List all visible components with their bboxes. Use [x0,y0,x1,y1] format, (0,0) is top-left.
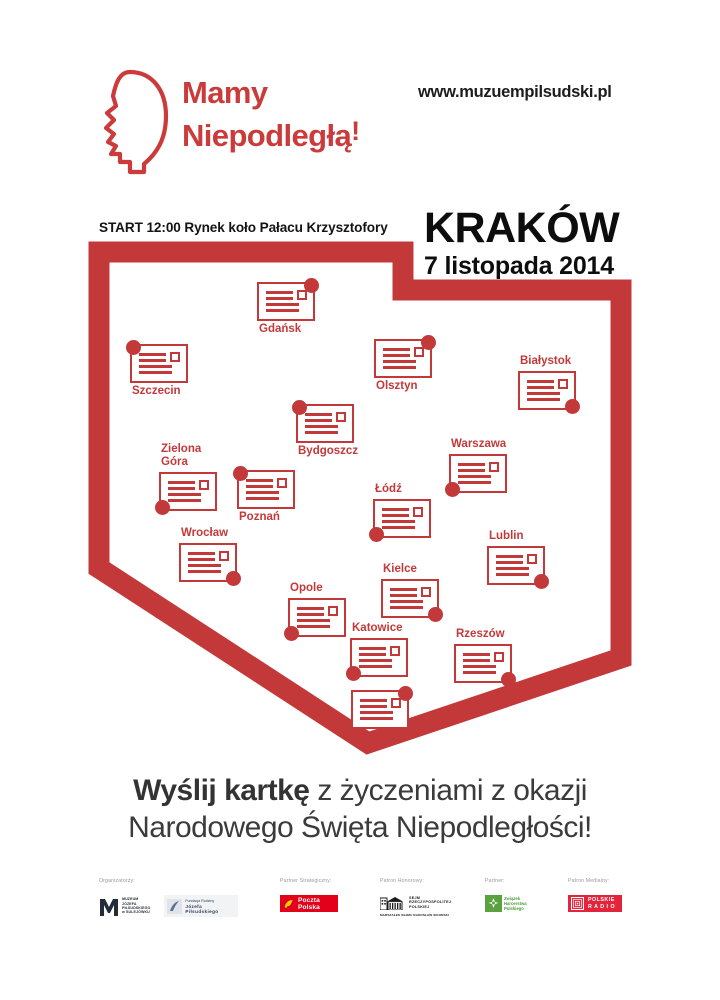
footer-caption: Patron Honorowy: [380,878,464,884]
postcard-line [297,619,330,622]
tagline: Wyślij kartkę z życzeniami z okazji Naro… [0,772,720,846]
postcard-icon [257,282,315,321]
stamp-icon [421,587,431,597]
postcard-line [305,413,332,416]
map-marker-dot-icon [346,666,361,681]
stamp-icon [489,462,499,472]
postcard-line [360,699,387,702]
tagline-bold: Wyślij kartkę [133,774,309,807]
map-pin-label: Gdańsk [259,323,301,336]
stamp-icon [494,652,504,662]
postcard-line [382,526,415,529]
sejm-rp-logo: SEJMRZECZYPOSPOLITEJPOLSKIEJMARSZAŁEK SE… [380,895,464,917]
postcard-line [382,514,409,517]
postcard-line [266,291,293,294]
poster-canvas: Mamy Niepodległą! www.muzuempilsudski.pl… [0,0,720,1000]
footer-caption: Partner: [485,878,527,884]
postcard-line [266,309,299,312]
postcard-line [297,613,324,616]
tagline-line-1: Wyślij kartkę z życzeniami z okazji [0,772,720,809]
tagline-rest: z życzeniami z okazji [309,774,586,807]
brand-line-2: Niepodległą! [182,112,360,155]
postcard-line [305,425,338,428]
postcard-icon [518,371,576,410]
postcard-line [246,479,273,482]
postcard-line [188,558,215,561]
postcard-line [527,398,560,401]
map-pin-label: Olsztyn [376,380,418,393]
map-pin-label: Szczecin [132,385,181,398]
postcard-line [168,481,195,484]
postcard-line [305,419,332,422]
sejm-building-icon [380,895,406,910]
postcard-line [188,570,221,573]
postcard-line [390,594,417,597]
stamp-icon [391,698,401,708]
museum-logo-text: MUZEUMJÓZEFAPIŁSUDSKIEGOw SULEJÓWKU [122,897,150,915]
map-marker-dot-icon [226,571,241,586]
postcard-line [297,607,324,610]
pilsudski-head-icon [100,68,172,176]
map-pin-label: Katowice [352,622,403,635]
sejm-logo-text: SEJMRZECZYPOSPOLITEJPOLSKIEJ [409,896,451,910]
footer-caption: Patron Medialny: [568,878,622,884]
postcard-line [139,371,172,374]
postcard-icon [351,690,409,729]
stamp-icon [297,290,307,300]
poczta-polska-logo: Poczta Polska [280,895,338,912]
start-info: START 12:00 Rynek koło Pałacu Krzysztofo… [99,220,388,235]
postcard-icon [487,546,545,585]
website-url[interactable]: www.muzuempilsudski.pl [418,83,612,102]
footer-logo-group: SEJMRZECZYPOSPOLITEJPOLSKIEJMARSZAŁEK SE… [380,895,464,917]
footer-logo-group: Poczta Polska [280,895,338,912]
postcard-line [168,499,201,502]
brand-line-1: Mamy [182,74,360,112]
postcard-line [168,493,201,496]
postcard-line [266,303,299,306]
stamp-icon [414,347,424,357]
museum-m-mark-icon [99,895,119,917]
postcard-line [139,365,172,368]
postcard-icon [350,638,408,677]
poczta-logo-text: Poczta Polska [298,897,334,911]
footer-column: Organizatorzy:MUZEUMJÓZEFAPIŁSUDSKIEGOw … [99,878,238,958]
map-marker-dot-icon [369,527,384,542]
map-pin-label: Wrocław [181,527,228,540]
map-marker-dot-icon [501,672,516,687]
map-marker-dot-icon [155,500,170,515]
postcard-line [527,386,554,389]
brand-logo-block: Mamy Niepodległą! [100,66,400,176]
postcard-icon [449,454,507,493]
postcard-line [266,297,293,300]
stamp-icon [277,478,287,488]
postcard-icon [373,499,431,538]
postcard-line [390,606,423,609]
fundacja-logo-text: Fundacja RodzinyJózefa Piłsudskiego [185,899,235,914]
footer-caption: Partner Strategiczny: [280,878,338,884]
stamp-icon [413,507,423,517]
postcard-icon [159,472,217,511]
fundacja-rodziny-pilsudskiego-logo: Fundacja RodzinyJózefa Piłsudskiego [164,895,238,917]
map-pin-label: Kielce [383,563,417,576]
postcard-line [458,481,491,484]
polskie-radio-mark-icon [571,897,584,910]
map-pin-label: Kraków [353,731,395,744]
zhp-lily-icon [485,895,502,912]
map-marker-dot-icon [292,400,307,415]
footer-logo-group: MUZEUMJÓZEFAPIŁSUDSKIEGOw SULEJÓWKUFunda… [99,895,238,917]
tagline-line-2: Narodowego Święta Niepodległości! [0,809,720,846]
postcard-line [383,348,410,351]
map-pin-label: Łódź [375,483,402,496]
postcard-line [359,665,392,668]
postcard-line [383,366,416,369]
map-pin-label: Białystok [520,355,571,368]
map-pin-label: Poznań [239,511,280,524]
postcard-line [297,625,330,628]
postcard-line [188,552,215,555]
zwiazek-harcerstwa-polskiego-logo: ZwiązekHarcerstwaPolskiego [485,895,527,912]
postcard-icon [288,598,346,637]
brand-exclamation: ! [351,116,359,146]
postcard-line [246,485,273,488]
post-horn-icon [284,899,295,908]
postcard-line [246,491,279,494]
footer-logo-group: ZwiązekHarcerstwaPolskiego [485,895,527,912]
postcard-icon [381,579,439,618]
stamp-icon [328,606,338,616]
postcard-line [359,653,386,656]
postcard-icon [130,344,188,383]
postcard-line [305,431,338,434]
map-pin-label: Lublin [489,530,524,543]
brand-wordmark: Mamy Niepodległą! [182,74,360,155]
postcard-line [168,487,195,490]
map-marker-dot-icon [445,482,460,497]
postcard-line [188,564,221,567]
postcard-line [463,659,490,662]
sejm-logo-subtext: MARSZAŁEK SEJMU RADOSŁAW SIKORSKI [380,913,464,917]
postcard-line [139,359,166,362]
postcard-line [458,463,485,466]
postcard-icon [237,470,295,509]
postcard-line [463,671,496,674]
postcard-line [360,711,393,714]
map-marker-dot-icon [565,399,580,414]
stamp-icon [219,551,229,561]
postcard-icon [179,543,237,582]
muzeum-pilsudskiego-logo: MUZEUMJÓZEFAPIŁSUDSKIEGOw SULEJÓWKU [99,895,150,917]
postcard-line [246,497,279,500]
footer-column: Partner:ZwiązekHarcerstwaPolskiego [485,878,527,958]
postcard-icon [374,339,432,378]
map-pin-label: Rzeszów [456,628,505,641]
postcard-line [382,520,415,523]
map-marker-dot-icon [126,340,141,355]
postcard-icon [296,404,354,443]
map-marker-dot-icon [304,278,319,293]
sponsor-footer: Organizatorzy:MUZEUMJÓZEFAPIŁSUDSKIEGOw … [0,878,720,968]
postcard-line [382,508,409,511]
map-marker-dot-icon [534,574,549,589]
map-pin-label: Opole [290,582,323,595]
footer-column: Partner Strategiczny:Poczta Polska [280,878,338,958]
postcard-line [463,665,496,668]
postcard-icon [454,644,512,683]
map-marker-dot-icon [421,335,436,350]
map-marker-dot-icon [233,466,248,481]
postcard-line [458,475,491,478]
fundacja-emblem-icon [167,899,182,914]
postcard-line [139,353,166,356]
postcard-line [390,588,417,591]
polskie-radio-logo-text: POLSKIER A D I O [588,897,615,910]
postcard-line [383,360,416,363]
map-marker-dot-icon [428,607,443,622]
map-pin-label: Warszawa [451,438,506,451]
footer-column: Patron Medialny:POLSKIER A D I O [568,878,622,958]
postcard-line [496,561,523,564]
postcard-line [527,392,560,395]
map-pin-label: ZielonaGóra [161,443,201,468]
postcard-line [496,567,529,570]
stamp-icon [390,646,400,656]
postcard-line [359,647,386,650]
postcard-line [383,354,410,357]
footer-column: Patron Honorowy:SEJMRZECZYPOSPOLITEJPOLS… [380,878,464,958]
stamp-icon [527,554,537,564]
postcard-line [458,469,485,472]
postcard-line [496,555,523,558]
map-pin-label: Bydgoszcz [298,445,358,458]
postcard-line [496,573,529,576]
stamp-icon [170,352,180,362]
postcard-line [360,705,387,708]
map-marker-dot-icon [284,626,299,641]
poland-map: GdańskSzczecinOlsztynBiałystokBydgoszczZ… [85,238,635,758]
polskie-radio-logo: POLSKIER A D I O [568,895,622,912]
map-marker-dot-icon [398,686,413,701]
postcard-line [390,600,423,603]
postcard-line [360,717,393,720]
postcard-line [359,659,392,662]
stamp-icon [199,480,209,490]
stamp-icon [558,379,568,389]
footer-logo-group: POLSKIER A D I O [568,895,622,912]
zhp-logo-text: ZwiązekHarcerstwaPolskiego [504,896,527,912]
stamp-icon [336,412,346,422]
footer-caption: Organizatorzy: [99,878,238,884]
postcard-line [527,380,554,383]
postcard-line [463,653,490,656]
